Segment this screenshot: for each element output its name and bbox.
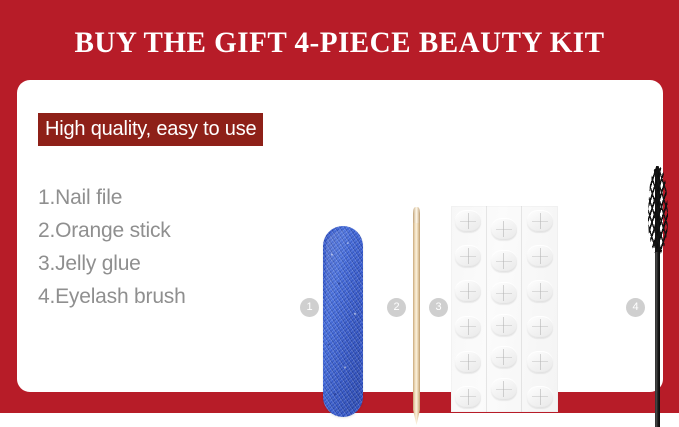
info-column: High quality, easy to use 1.Nail file 2.… [38, 113, 303, 146]
badge-orange-stick: 2 [387, 298, 406, 317]
list-item: 4.Eyelash brush [38, 280, 298, 313]
brush-bristles-right [647, 166, 669, 254]
glue-tab [491, 282, 517, 304]
list-item: 1.Nail file [38, 181, 298, 214]
glue-tab [527, 280, 553, 302]
glue-tab [455, 386, 481, 408]
glue-tab [491, 346, 517, 368]
glue-tab [491, 250, 517, 272]
glue-tab [527, 386, 553, 408]
glue-tab [455, 280, 481, 302]
glue-tab [527, 245, 553, 267]
glue-tab [455, 316, 481, 338]
glue-column [522, 206, 558, 412]
list-item: 3.Jelly glue [38, 247, 298, 280]
glue-column [487, 206, 523, 412]
badge-jelly-glue: 3 [429, 298, 448, 317]
glue-column [451, 206, 487, 412]
glue-tab [491, 378, 517, 400]
product-card: High quality, easy to use 1.Nail file 2.… [17, 80, 663, 392]
glue-tab [455, 210, 481, 232]
poster-screenshot: BUY THE GIFT 4-PIECE BEAUTY KIT High qua… [0, 0, 679, 427]
brush-handle [655, 252, 660, 427]
list-item: 2.Orange stick [38, 214, 298, 247]
glue-tab [455, 245, 481, 267]
glue-tab [491, 218, 517, 240]
glue-tab [527, 316, 553, 338]
badge-nail-file: 1 [300, 298, 319, 317]
orange-stick-tip [413, 207, 420, 223]
glue-tab [491, 314, 517, 336]
glue-tab [455, 351, 481, 373]
nail-file-product [323, 226, 363, 417]
page-title: BUY THE GIFT 4-PIECE BEAUTY KIT [10, 24, 669, 62]
eyelash-brush-product [647, 166, 669, 427]
brush-bristle-head [647, 166, 669, 254]
orange-stick-body [413, 207, 420, 425]
glue-tab [527, 210, 553, 232]
glue-tab [527, 351, 553, 373]
jelly-glue-product [451, 206, 558, 412]
badge-eyelash-brush: 4 [626, 298, 645, 317]
orange-stick-product [413, 207, 420, 425]
poster-background: BUY THE GIFT 4-PIECE BEAUTY KIT High qua… [0, 0, 679, 413]
feature-list: 1.Nail file 2.Orange stick 3.Jelly glue … [38, 181, 298, 313]
quality-banner: High quality, easy to use [38, 113, 263, 146]
